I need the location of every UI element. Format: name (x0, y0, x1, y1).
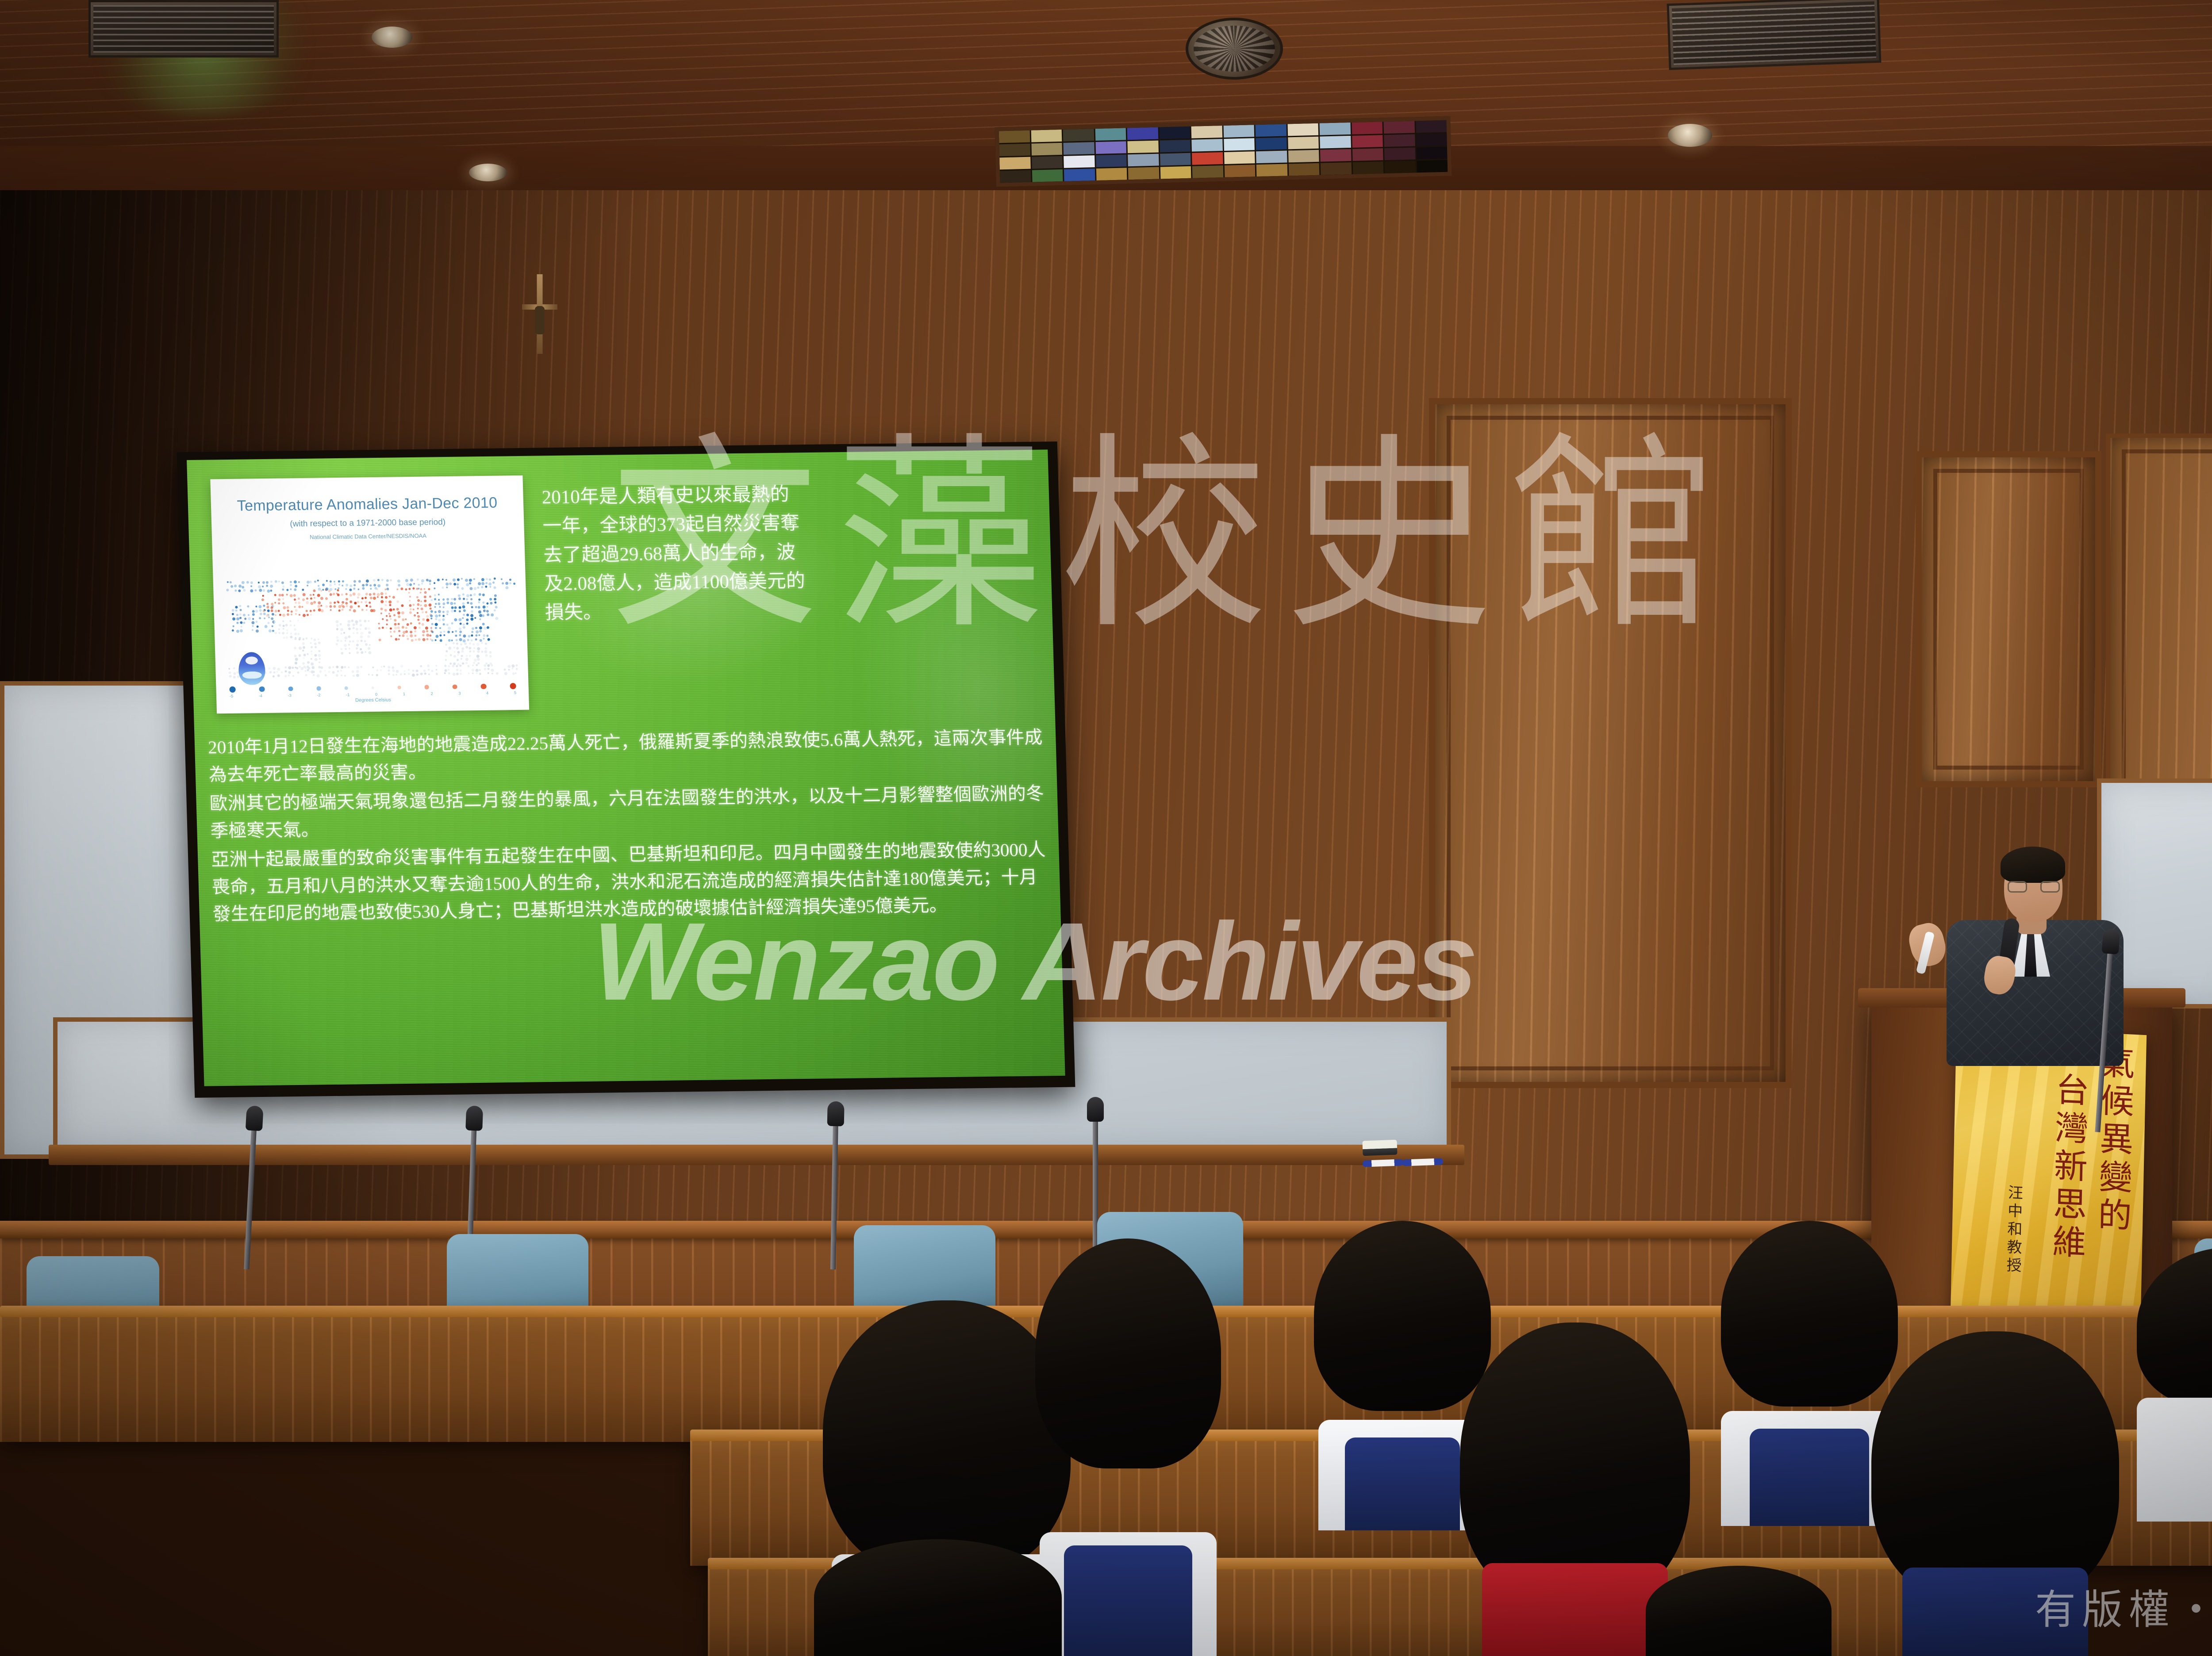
speaker-hair (2001, 847, 2065, 883)
hair (823, 1300, 1071, 1575)
wall-wood-panel (1429, 398, 1792, 1088)
hair (1035, 1238, 1221, 1468)
audience-member-9 (814, 1539, 1062, 1656)
projection-screen[interactable]: Temperature Anomalies Jan-Dec 2010 (with… (177, 441, 1075, 1098)
ceiling-downlight-1 (372, 27, 412, 48)
whiteboard-ledge (49, 1145, 1464, 1165)
legend-dot (372, 686, 374, 689)
hair (814, 1539, 1062, 1656)
map-source: National Climatic Data Center/NESDIS/NOA… (212, 531, 524, 542)
uniform-vest (1064, 1545, 1192, 1656)
whiteboard-marker-1[interactable] (1363, 1159, 1403, 1167)
slide-body-text: 2010年1月12日發生在海地的地震造成22.25萬人死亡，俄羅斯夏季的熱浪致使… (207, 724, 1049, 929)
map-anomaly-dots (221, 560, 520, 677)
presentation-slide: Temperature Anomalies Jan-Dec 2010 (with… (187, 449, 1065, 1086)
legend-tick: 4 (486, 691, 488, 695)
uniform-vest (1902, 1568, 2088, 1656)
map-title: Temperature Anomalies Jan-Dec 2010 (211, 494, 523, 515)
crucifix-figure (535, 306, 545, 334)
ceiling-downlight-3 (469, 164, 507, 181)
legend-tick: -2 (317, 693, 320, 697)
legend-dot (452, 684, 457, 689)
hair (1871, 1331, 2119, 1606)
legend-dot (259, 686, 265, 692)
banner-title-left-column: 台灣新思維 (2041, 1071, 2093, 1263)
hair (2137, 1247, 2212, 1407)
wall-wood-panel-upper-right (1916, 451, 2101, 787)
legend-dot (345, 686, 348, 690)
hair (1646, 1566, 1832, 1656)
legend-tick: 0 (375, 692, 377, 697)
ceiling-vent-left (88, 0, 279, 57)
uniform-shirt (2137, 1398, 2212, 1522)
slide-right-column-text: 2010年是人類有史以來最熱的一年，全球的373起自然災害奪去了超過29.68萬… (541, 480, 811, 628)
red-jacket (1482, 1563, 1668, 1656)
legend-dot (425, 685, 429, 689)
legend-tick: -1 (346, 693, 349, 697)
lecture-hall-photo: Temperature Anomalies Jan-Dec 2010 (with… (0, 0, 2212, 1656)
legend-dot (229, 686, 235, 693)
whiteboard-eraser[interactable] (1362, 1140, 1397, 1156)
legend-tick: 1 (403, 692, 405, 696)
audience-member-6 (1871, 1331, 2119, 1656)
vent-louvers (1672, 1, 1876, 65)
panel-grain (1435, 404, 1786, 1082)
slide-paragraph-3: 亞洲十起最嚴重的致命災害事件有五起發生在中國、巴基斯坦和印尼。四月中國發生的地震… (211, 836, 1049, 928)
noaa-temperature-map-card: Temperature Anomalies Jan-Dec 2010 (with… (210, 475, 529, 713)
banner-title-right-column: 氣候異變的 (2087, 1044, 2139, 1236)
audience-member-7 (2137, 1247, 2212, 1522)
legend-dot (317, 686, 321, 690)
ceiling-downlight-2 (1668, 124, 1712, 147)
stained-glass-window (995, 116, 1452, 187)
glasses-lens-right (2040, 881, 2060, 893)
legend-dot (481, 684, 487, 690)
crucifix-icon (522, 274, 557, 354)
legend-tick: 3 (458, 691, 461, 696)
banner-speaker-credit: 汪中和教授 (2001, 1184, 2025, 1276)
panel-grain (1922, 457, 2095, 781)
legend-tick: -4 (259, 694, 262, 698)
slide-paragraph-2: 歐洲其它的極端天氣現象還包括二月發生的暴風，六月在法國發生的洪水，以及十二月影響… (209, 780, 1047, 844)
legend-dot (288, 686, 293, 691)
legend-tick: 5 (514, 690, 516, 695)
legend-dot (398, 686, 401, 689)
audience-member-10 (1646, 1566, 1832, 1656)
legend-tick: -5 (230, 694, 233, 698)
legend-dot (510, 683, 516, 689)
vent-louvers (93, 5, 274, 53)
ceiling-vent-right (1667, 0, 1882, 70)
legend-tick: -3 (288, 693, 291, 698)
uniform-vest (1345, 1437, 1460, 1530)
round-ceiling-diffuser (1186, 18, 1283, 80)
event-banner: 氣候異變的 台灣新思維 汪中和教授 (1950, 1026, 2147, 1345)
audience-member-2 (1035, 1238, 1221, 1656)
whiteboard-marker-2[interactable] (1402, 1158, 1443, 1166)
map-legend: -5-4-3-2-1012345 Degrees Celsius (229, 680, 516, 706)
slide-paragraph-1: 2010年1月12日發生在海地的地震造成22.25萬人死亡，俄羅斯夏季的熱浪致使… (207, 724, 1045, 788)
legend-tick: 2 (430, 691, 433, 696)
stained-glass-cells (999, 120, 1448, 183)
speaker-glasses-icon (2008, 881, 2060, 893)
glasses-lens-left (2008, 881, 2027, 893)
map-subtitle: (with respect to a 1971-2000 base period… (211, 517, 524, 530)
uniform-vest (1750, 1429, 1869, 1526)
